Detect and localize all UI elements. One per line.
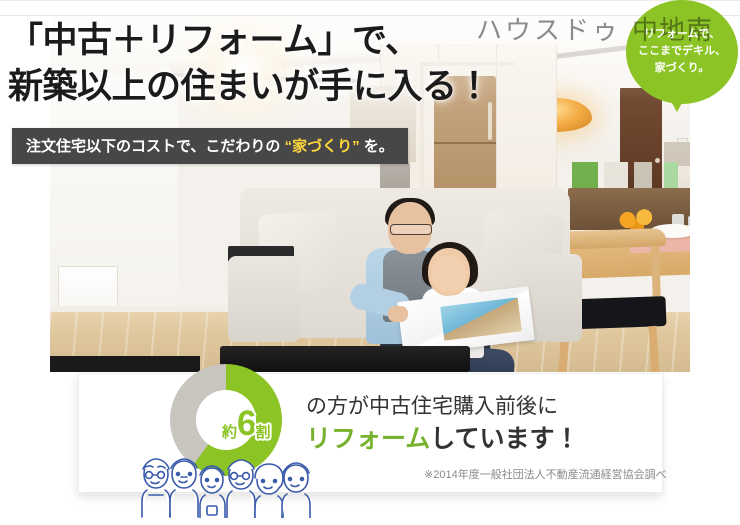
bubble-line-1: リフォームで、 bbox=[626, 26, 738, 43]
percent-prefix: 約 bbox=[222, 424, 237, 441]
photo-daughter-face bbox=[432, 256, 466, 292]
promo-banner: ハウスドゥ 中地南 リフォームで、 ここまでデキル、 家づくり。 「中古＋リフォ… bbox=[0, 0, 740, 525]
statistic-line-2: リフォームしています！ bbox=[306, 422, 580, 456]
person-figure bbox=[282, 463, 310, 518]
statistic-reform-word: リフォーム bbox=[306, 425, 430, 453]
statistic-line-2-rest: しています！ bbox=[430, 425, 579, 453]
photo-sideboard-items bbox=[572, 162, 690, 190]
statistic-line-1: の方が中古住宅購入前後に bbox=[306, 392, 580, 422]
bubble-line-3: 家づくり。 bbox=[626, 60, 738, 77]
photo-father-hand bbox=[388, 306, 408, 322]
photo-father-glasses bbox=[390, 224, 432, 235]
headline-line-2: 新築以上の住まいが手に入る！ bbox=[8, 64, 528, 110]
headline-line-1: 「中古＋リフォーム」で、 bbox=[8, 18, 528, 64]
subtitle-bar: 注文住宅以下のコストで、こだわりの “家づくり” を。 bbox=[12, 128, 408, 164]
speech-bubble-text: リフォームで、 ここまでデキル、 家づくり。 bbox=[626, 26, 738, 77]
subtitle-before: 注文住宅以下のコストで、こだわりの bbox=[26, 138, 285, 155]
speech-bubble-tail bbox=[668, 96, 686, 112]
person-figure bbox=[142, 459, 170, 517]
photo-fridge-seam bbox=[434, 142, 496, 144]
person-figure bbox=[255, 464, 283, 518]
percent-suffix: 割 bbox=[255, 424, 270, 441]
person-figure bbox=[200, 466, 225, 518]
headline: 「中古＋リフォーム」で、 新築以上の住まいが手に入る！ bbox=[8, 18, 528, 110]
subtitle-highlight: “家づくり” bbox=[285, 138, 360, 155]
subtitle-after: を。 bbox=[360, 138, 394, 155]
person-figure bbox=[227, 460, 255, 518]
person-figure bbox=[170, 459, 198, 517]
photo-sofa-arm bbox=[228, 256, 300, 342]
bubble-line-2: ここまでデキル、 bbox=[626, 43, 738, 60]
people-illustration bbox=[138, 452, 314, 518]
source-note: ※2014年度一般社団法人不動産流通経営協会調べ bbox=[424, 466, 667, 482]
percent-value: 6 bbox=[237, 404, 255, 443]
percentage-label: 約6割 bbox=[222, 404, 271, 444]
top-rule bbox=[0, 0, 740, 1]
statistic-text: の方が中古住宅購入前後に リフォームしています！ bbox=[306, 392, 580, 456]
